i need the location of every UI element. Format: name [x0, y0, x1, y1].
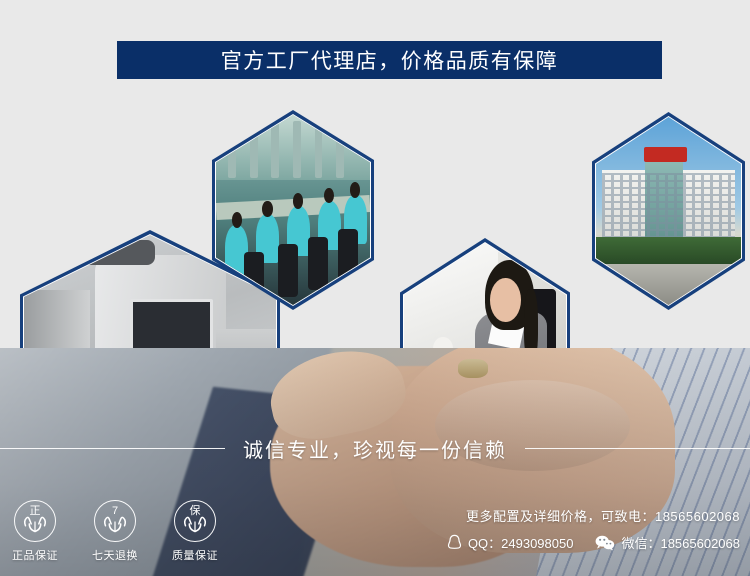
qq-label: QQ：2493098050 [468, 533, 574, 552]
hands-holding-icon-1: 正 [14, 500, 56, 542]
contact-block: 更多配置及详细价格，可致电：18565602068 QQ：2493098050 [270, 506, 740, 552]
top-section: 官方工厂代理店，价格品质有保障 [0, 0, 750, 348]
process-flow [0, 90, 750, 350]
hands-holding-icon-3: 保 [174, 500, 216, 542]
trust-banner-section: 诚信专业，珍视每一份信赖 正 正品保证 7 [0, 348, 750, 576]
header-banner: 官方工厂代理店，价格品质有保障 [117, 41, 662, 79]
guarantee-badges: 正 正品保证 7 七天退换 [8, 500, 228, 570]
wechat-icon [595, 535, 615, 551]
badge-label-2: 七天退换 [88, 547, 142, 563]
badge-label-3: 质量保证 [168, 547, 222, 563]
page-title: 官方工厂代理店，价格品质有保障 [221, 45, 559, 75]
hexagon-frame-2 [212, 110, 374, 310]
slogan-rule-left [0, 448, 225, 449]
qq-penguin-icon [447, 534, 462, 551]
badge-authentic: 正 正品保证 [8, 500, 62, 570]
badge-seven-day-return: 7 七天退换 [88, 500, 142, 570]
factory-assembly-line-photo [216, 115, 370, 305]
hexagon-frame-4 [592, 112, 745, 310]
process-step-4[interactable] [592, 112, 745, 310]
wechat-label: 微信：18565602068 [621, 533, 740, 552]
badge-label-1: 正品保证 [8, 547, 62, 563]
contact-phone-line: 更多配置及详细价格，可致电：18565602068 [270, 506, 740, 525]
badge-quality: 保 质量保证 [168, 500, 222, 570]
process-step-2[interactable] [212, 110, 374, 310]
contact-im-line: QQ：2493098050 微信：18565602068 [270, 533, 740, 552]
slogan-text: 诚信专业，珍视每一份信赖 [225, 434, 525, 463]
slogan-rule-right [525, 448, 750, 449]
hands-holding-icon-2: 7 [94, 500, 136, 542]
slogan-row: 诚信专业，珍视每一份信赖 [0, 433, 750, 463]
company-building-photo [596, 117, 741, 305]
